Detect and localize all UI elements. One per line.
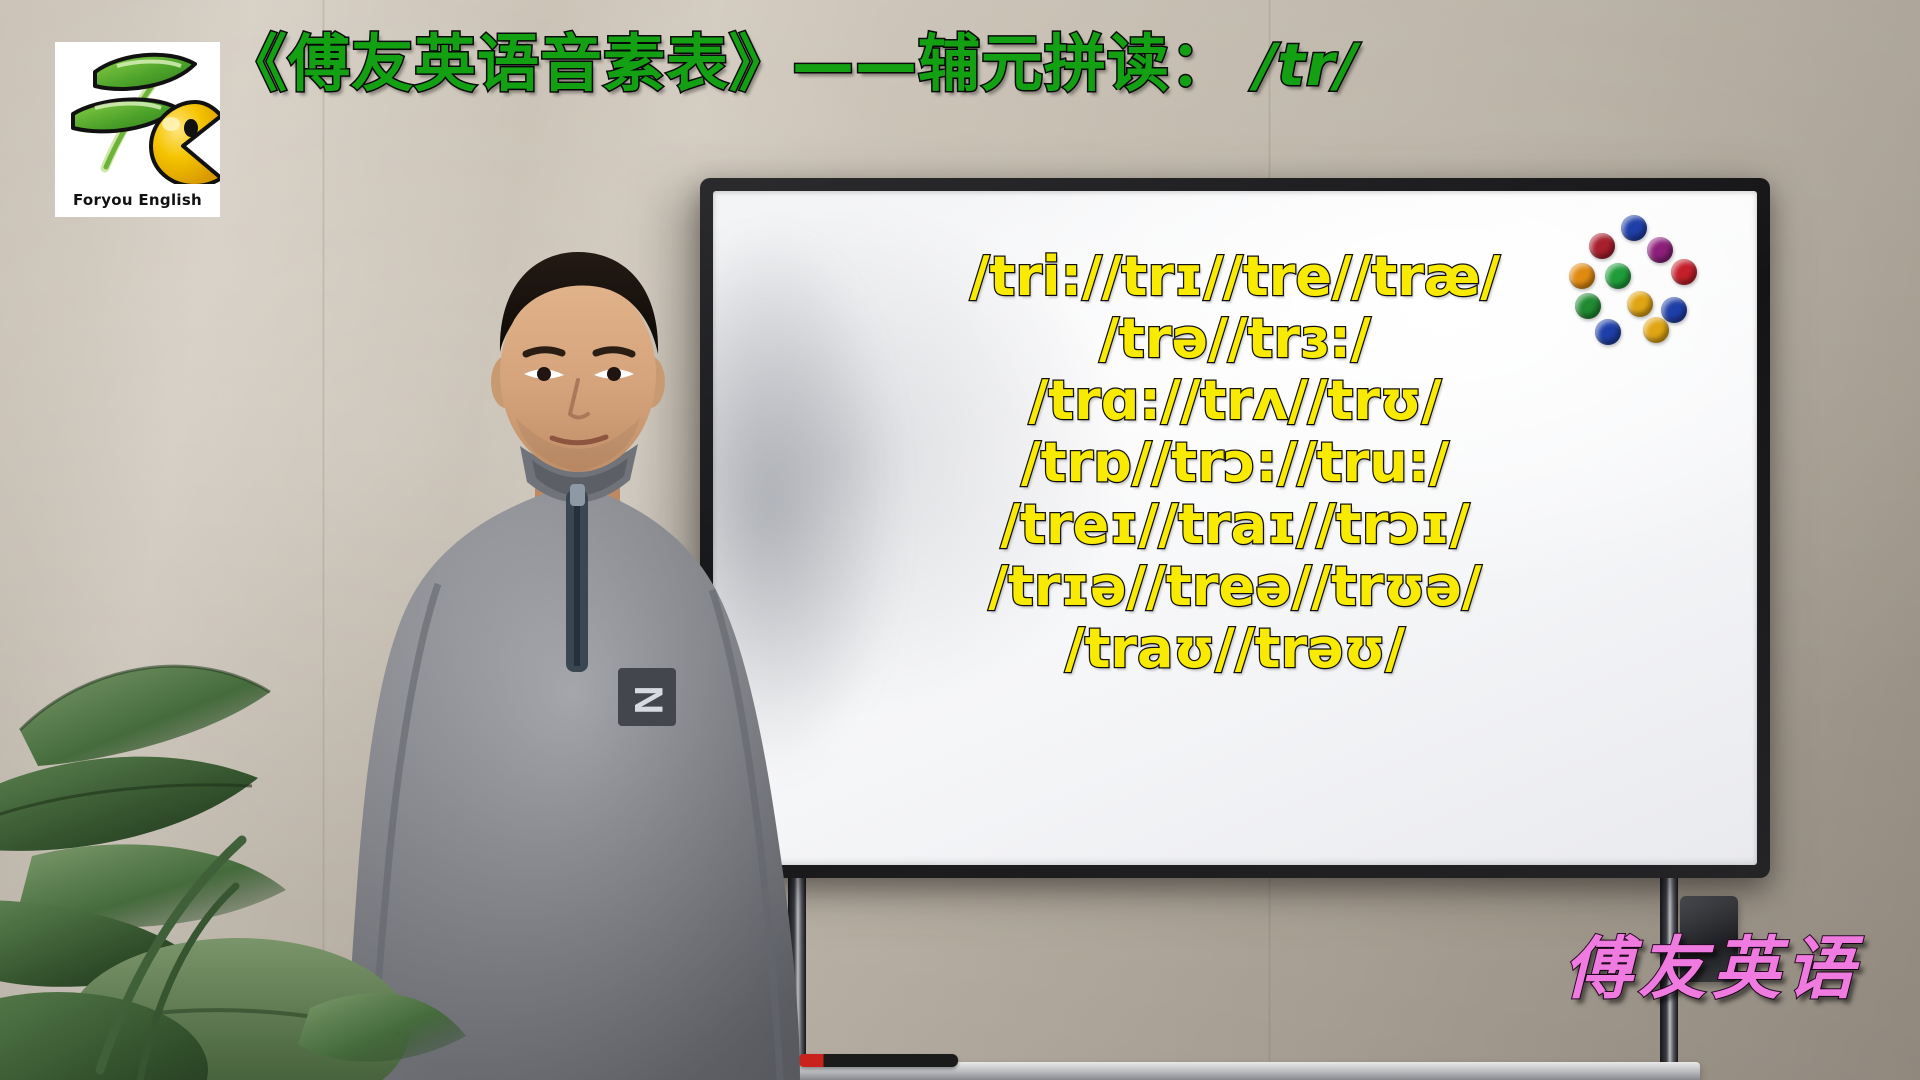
video-frame: /tri://trɪ//tre//træ//trə//trɜ://trɑ://t… xyxy=(0,0,1920,1080)
title-main: 《傅友英语音素表》——辅元拼读： xyxy=(225,27,1233,100)
foreground-plant xyxy=(0,600,740,1080)
brand-logo[interactable]: Foryou English xyxy=(55,42,220,217)
plant-leaf-1 xyxy=(20,666,270,766)
leaf-fruit-logo-icon xyxy=(55,42,220,184)
header-bar: Foryou English 《傅友英语音素表》——辅元拼读：/tr/ xyxy=(0,0,1920,150)
right-pupil xyxy=(607,367,621,381)
logo-caption: Foryou English xyxy=(55,191,220,209)
magnet-1[interactable] xyxy=(1621,215,1647,241)
title-phoneme: /tr/ xyxy=(1233,31,1358,99)
zipper-pull xyxy=(570,484,585,506)
page-title: 《傅友英语音素表》——辅元拼读：/tr/ xyxy=(225,18,1785,110)
watermark: 傅友英语 xyxy=(1564,913,1860,1012)
logo-fruit-eye xyxy=(184,119,198,137)
plant-figure xyxy=(0,600,740,1080)
logo-fruit-highlight xyxy=(162,117,180,131)
left-pupil xyxy=(537,367,551,381)
plant-leaf-7 xyxy=(298,993,466,1062)
